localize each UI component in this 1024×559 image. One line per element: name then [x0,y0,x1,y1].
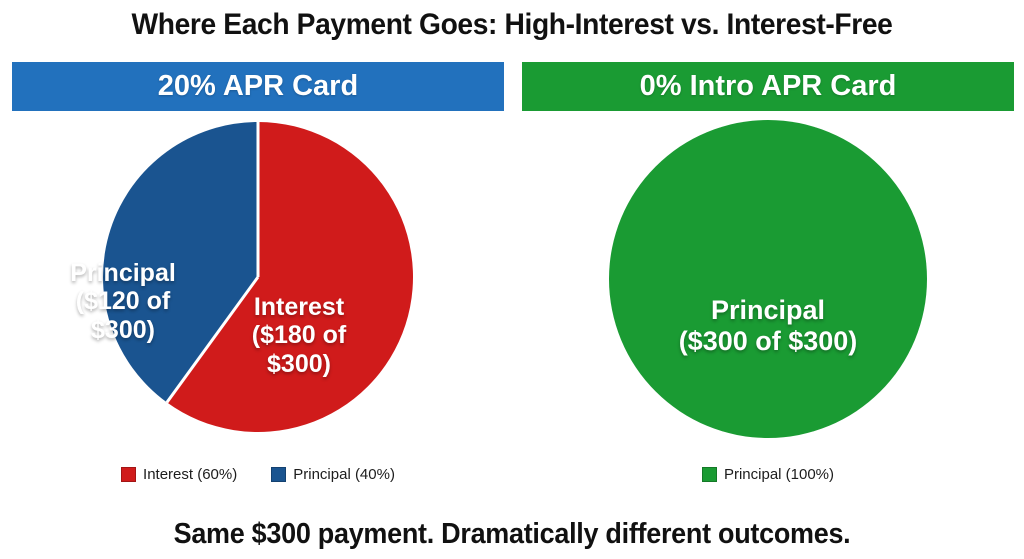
legend-swatch-interest [121,467,136,482]
page-title: Where Each Payment Goes: High-Interest v… [31,8,994,42]
footer-caption: Same $300 payment. Dramatically differen… [36,518,988,551]
pie-chart-20-apr-card: Principal ($120 of $300) Interest ($180 … [12,111,504,441]
legend-label-principal: Principal (100%) [724,466,834,483]
legend-swatch-principal [702,467,717,482]
pie-chart-svg-right [606,117,930,441]
legend-item-principal[interactable]: Principal (40%) [271,466,395,483]
legend-item-interest[interactable]: Interest (60%) [121,466,237,483]
legend-item-principal[interactable]: Principal (100%) [702,466,834,483]
pie-slice-principal-full[interactable] [609,120,927,438]
panel-header-0-intro-apr-card: 0% Intro APR Card [522,62,1014,111]
pie-chart-0-intro-apr-card: Principal ($300 of $300) [522,111,1014,441]
panel-0-intro-apr-card: 0% Intro APR Card Principal ($300 of $30… [522,62,1014,494]
legend-0-intro-apr-card: Principal (100%) [522,454,1014,494]
pie-chart-svg-left [98,117,418,437]
panel-20-apr-card: 20% APR Card Principal ($120 of $300) In… [12,62,504,494]
legend-20-apr-card: Interest (60%) Principal (40%) [12,454,504,494]
legend-swatch-principal [271,467,286,482]
legend-label-interest: Interest (60%) [143,466,237,483]
legend-label-principal: Principal (40%) [293,466,395,483]
panel-header-20-apr-card: 20% APR Card [12,62,504,111]
